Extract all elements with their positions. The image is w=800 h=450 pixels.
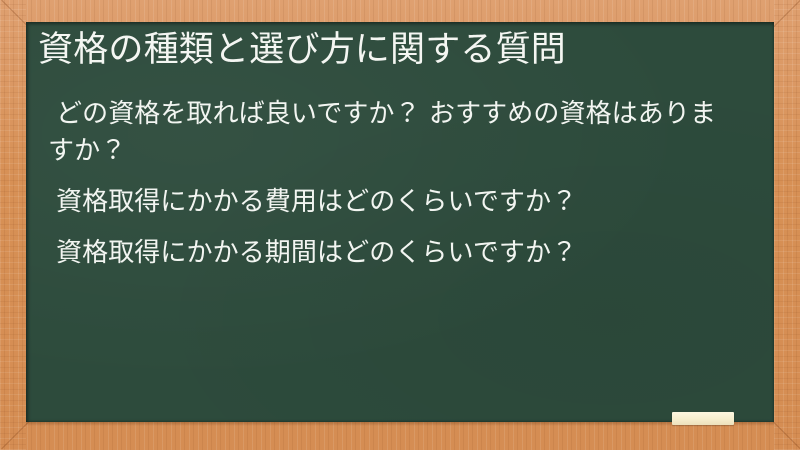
slide-title: 資格の種類と選び方に関する質問 (38, 28, 764, 72)
chalk-stick-icon (672, 412, 734, 425)
question-list: どの資格を取れば良いですか？ おすすめの資格はありますか？ 資格取得にかかる費用… (48, 96, 740, 272)
board-ledge-shadow (26, 422, 774, 426)
frame-rail-right (774, 0, 800, 450)
question-item: 資格取得にかかる期間はどのくらいですか？ (48, 235, 740, 272)
chalkboard-surface: 資格の種類と選び方に関する質問 どの資格を取れば良いですか？ おすすめの資格はあ… (26, 22, 774, 422)
frame-rail-left (0, 0, 26, 450)
chalkboard-slide: 資格の種類と選び方に関する質問 どの資格を取れば良いですか？ おすすめの資格はあ… (0, 0, 800, 450)
question-item: どの資格を取れば良いですか？ おすすめの資格はありますか？ (48, 96, 740, 170)
question-item: 資格取得にかかる費用はどのくらいですか？ (48, 184, 740, 221)
